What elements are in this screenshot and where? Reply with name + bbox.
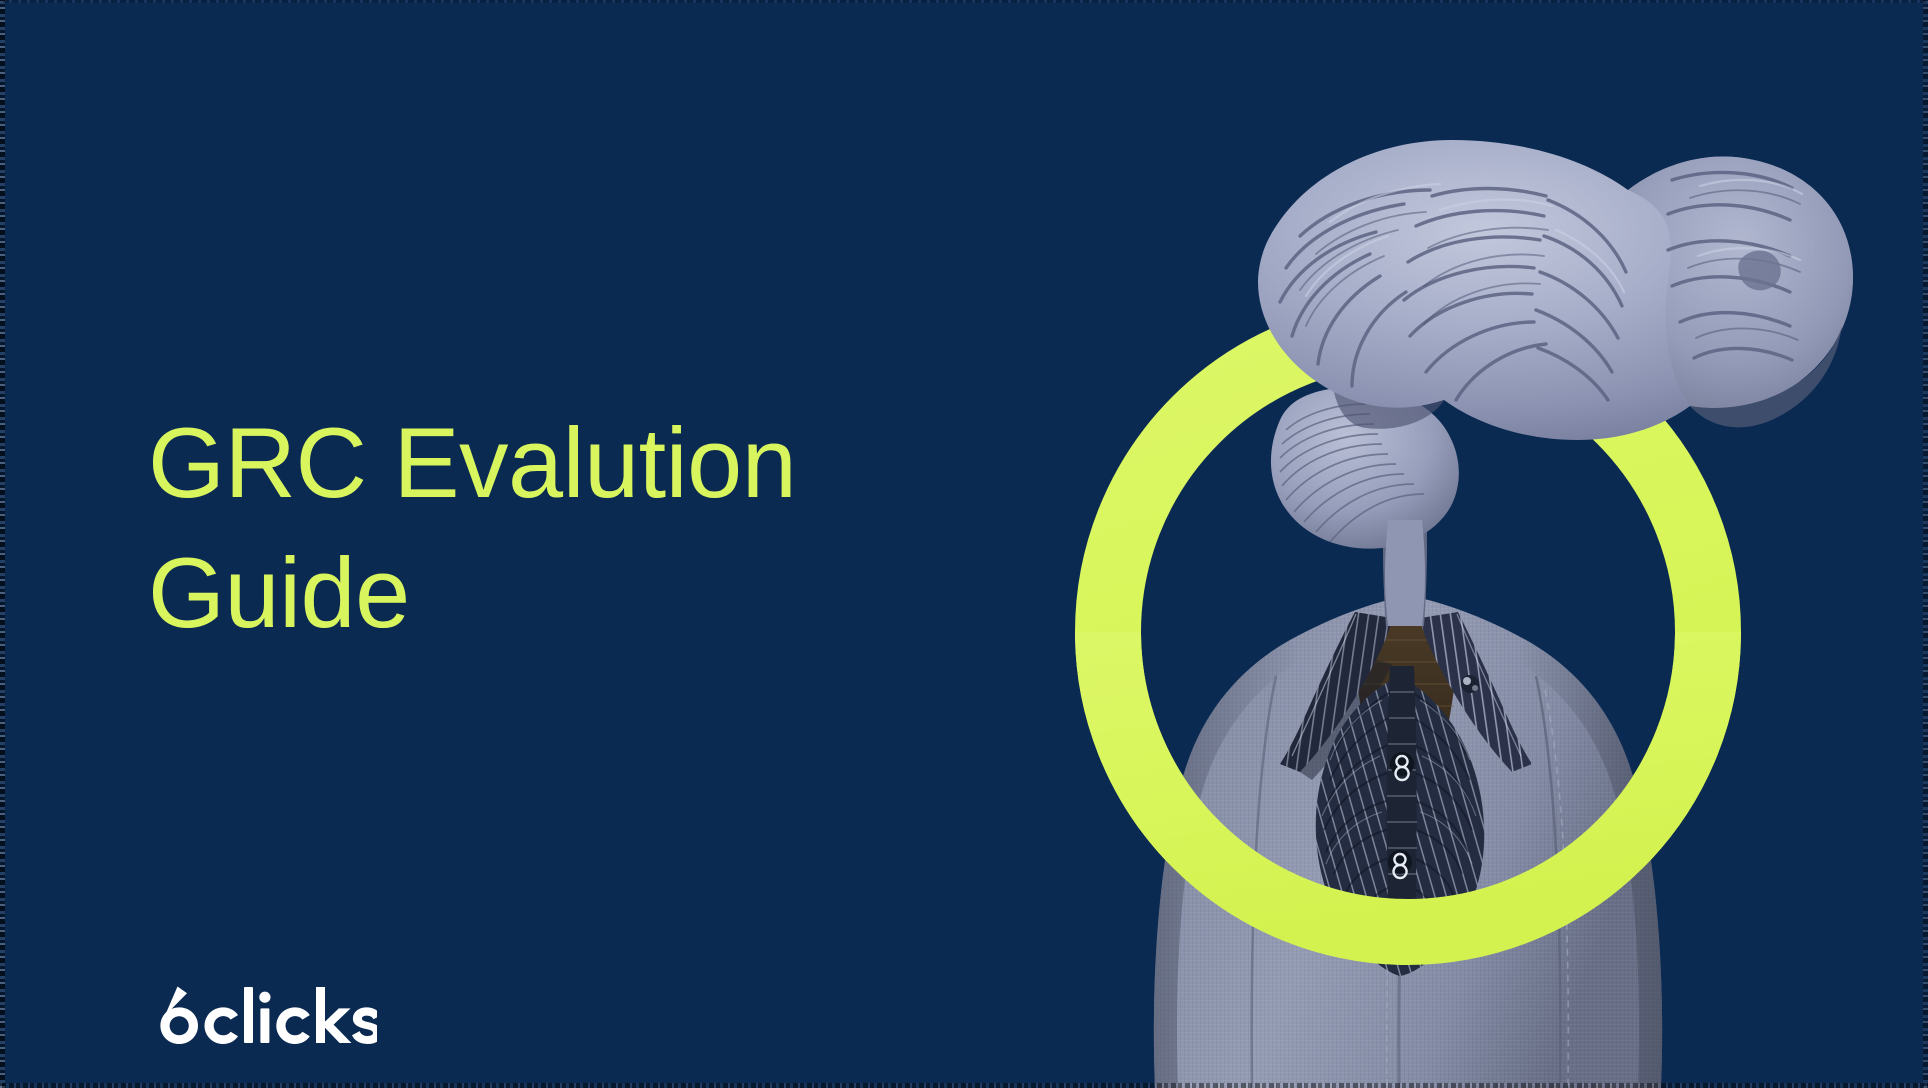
cerebellum: [1271, 387, 1459, 626]
top-edge-artifact: [0, 0, 1928, 3]
6clicks-logo: [147, 986, 377, 1044]
green-ring-decoration: [1108, 332, 1708, 932]
right-edge-artifact: [1923, 0, 1928, 1088]
bottom-edge-artifact: [0, 1083, 1928, 1088]
title-slide: GRC Evalution Guide: [0, 0, 1928, 1088]
collar-stud: [1461, 675, 1479, 693]
blouse-button-lower: [1388, 850, 1412, 878]
suit-torso: [1154, 470, 1662, 1088]
page-title: GRC Evalution Guide: [148, 398, 868, 658]
green-ring-front-arc: [1108, 632, 1708, 932]
suit-button: [1368, 924, 1415, 956]
left-edge-artifact: [0, 0, 5, 1088]
blouse-button-upper: [1390, 752, 1414, 780]
brain: [1258, 140, 1853, 440]
